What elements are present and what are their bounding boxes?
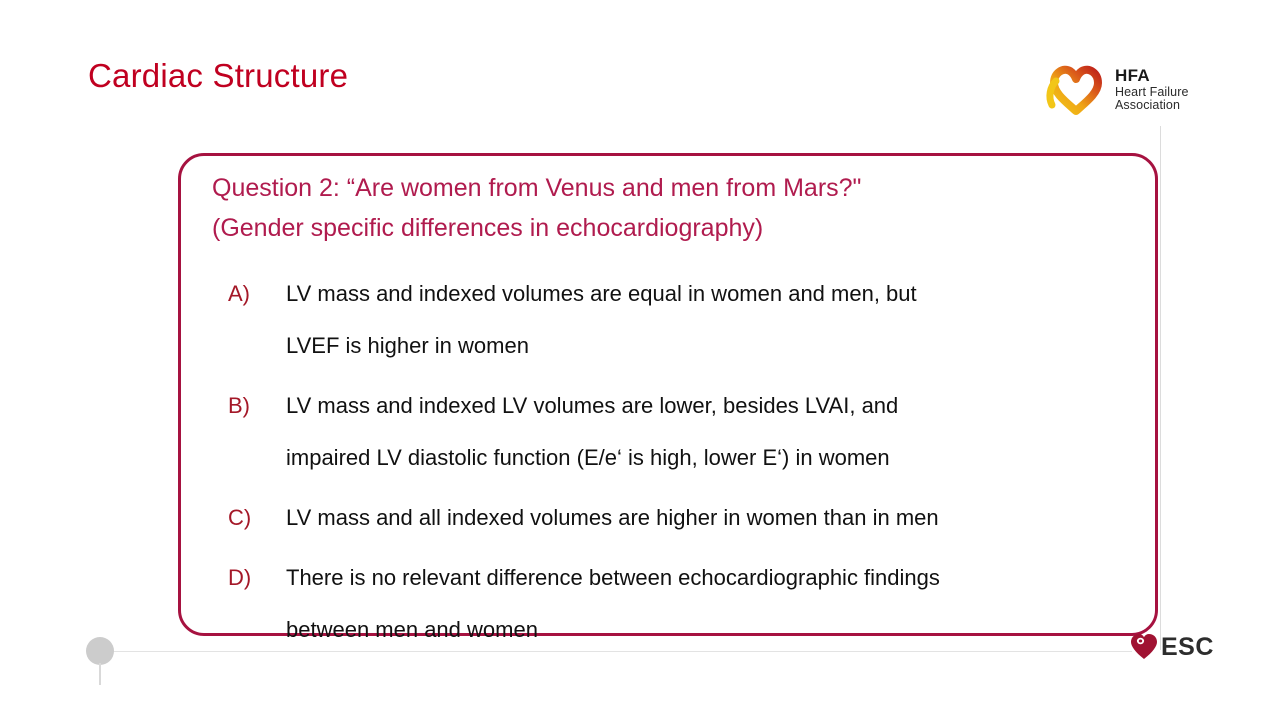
hfa-name-line-1: Heart Failure [1115, 86, 1189, 100]
esc-wordmark: ESC [1161, 635, 1214, 660]
heart-icon [1044, 61, 1106, 119]
option-a-line-2: LVEF is higher in women [286, 320, 1128, 372]
option-letter-b: B) [228, 380, 286, 432]
answer-option-b[interactable]: B) LV mass and indexed LV volumes are lo… [228, 380, 1128, 484]
option-b-line-1: LV mass and indexed LV volumes are lower… [286, 380, 1128, 432]
question-heading: Question 2: “Are women from Venus and me… [212, 168, 1132, 248]
option-c-line-1: LV mass and all indexed volumes are high… [286, 492, 1128, 544]
option-text-a: LV mass and indexed volumes are equal in… [286, 268, 1128, 372]
option-d-line-1: There is no relevant difference between … [286, 552, 1128, 604]
slide-canvas: Cardiac Structure HFA Heart Failure [0, 0, 1280, 720]
footer-rule [112, 651, 1132, 652]
page-title: Cardiac Structure [88, 57, 348, 95]
question-heading-line-1: Question 2: “Are women from Venus and me… [212, 168, 1132, 208]
heart-icon [1129, 632, 1159, 662]
answer-option-d[interactable]: D) There is no relevant difference betwe… [228, 552, 1128, 656]
answer-options-list: A) LV mass and indexed volumes are equal… [228, 268, 1128, 664]
option-text-d: There is no relevant difference between … [286, 552, 1128, 656]
option-letter-c: C) [228, 492, 286, 544]
esc-logo: ESC [1129, 630, 1214, 664]
option-text-c: LV mass and all indexed volumes are high… [286, 492, 1128, 544]
option-b-line-2: impaired LV diastolic function (E/e‘ is … [286, 432, 1128, 484]
question-heading-line-2: (Gender specific differences in echocard… [212, 208, 1132, 248]
hfa-name-line-2: Association [1115, 99, 1189, 113]
hfa-logo: HFA Heart Failure Association [1044, 58, 1214, 122]
option-letter-d: D) [228, 552, 286, 604]
footer-stem [99, 663, 101, 685]
answer-option-a[interactable]: A) LV mass and indexed volumes are equal… [228, 268, 1128, 372]
option-d-line-2: between men and women [286, 604, 1128, 656]
hfa-logo-text: HFA Heart Failure Association [1115, 67, 1189, 112]
footer-dot [86, 637, 114, 665]
vertical-divider [1160, 126, 1161, 650]
option-letter-a: A) [228, 268, 286, 320]
option-text-b: LV mass and indexed LV volumes are lower… [286, 380, 1128, 484]
answer-option-c[interactable]: C) LV mass and all indexed volumes are h… [228, 492, 1128, 544]
option-a-line-1: LV mass and indexed volumes are equal in… [286, 268, 1128, 320]
hfa-abbreviation: HFA [1115, 67, 1189, 85]
